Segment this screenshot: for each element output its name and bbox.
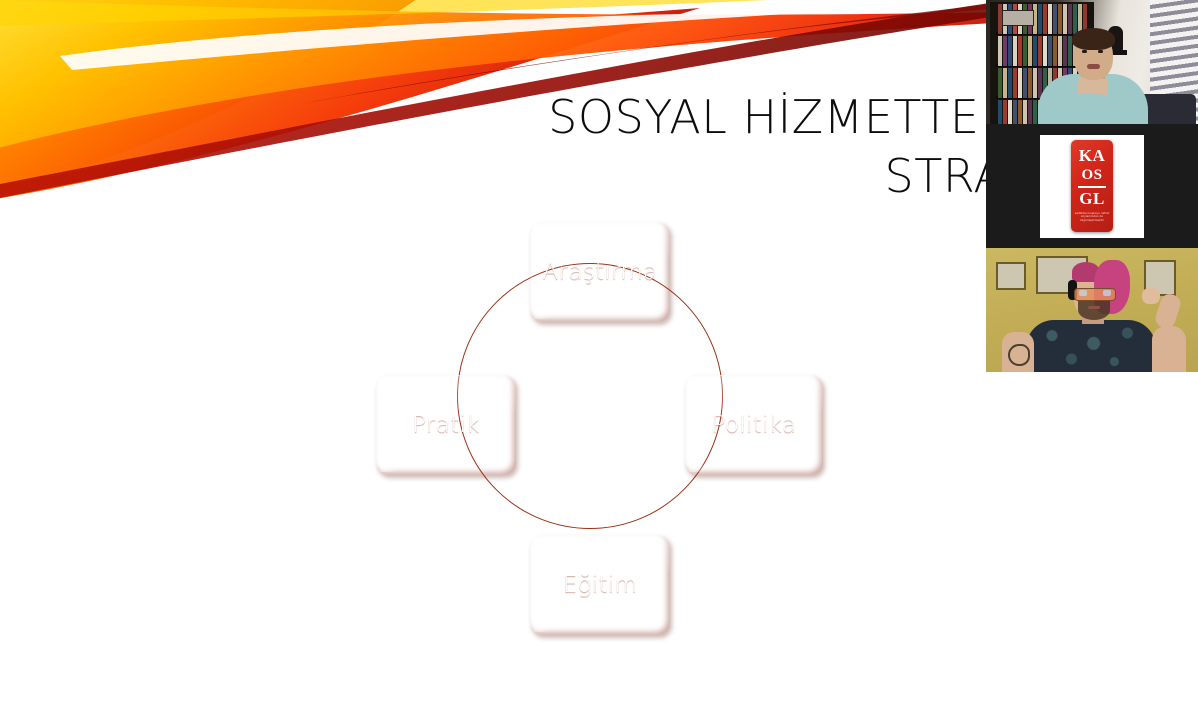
- tattoo: [1008, 344, 1030, 366]
- speaker-mouth: [1088, 306, 1100, 309]
- logo-line-ka: KA: [1071, 147, 1113, 164]
- wall-picture: [1002, 10, 1034, 26]
- cycle-node-label: Politika: [712, 412, 797, 438]
- speaker-eye-right: [1098, 50, 1103, 53]
- logo-line-gl: GL: [1071, 190, 1113, 207]
- logo-slogan: eşitlikten kuşkuyu nefret söyleminden de…: [1071, 212, 1113, 222]
- video-tile-speaker-2[interactable]: [986, 248, 1198, 372]
- logo-line-os: OS: [1071, 168, 1113, 183]
- participant-video-column: KA OS GL eşitlikten kuşkuyu nefret söyle…: [986, 0, 1198, 372]
- speaker-beard: [1078, 300, 1110, 320]
- speaker-mouth: [1087, 64, 1100, 69]
- speaker-arm-right: [1152, 326, 1186, 372]
- presentation-screen: SOSYAL HİZMETTE DE STRATE Araştırma Poli…: [0, 0, 1198, 719]
- cycle-node-politika[interactable]: Politika: [685, 375, 823, 475]
- tinted-glasses: [1074, 288, 1116, 301]
- logo-divider: [1078, 186, 1106, 188]
- speaker-torso: [1026, 320, 1156, 372]
- cycle-node-label: Araştırma: [543, 259, 658, 285]
- cycle-diagram: Araştırma Politika Eğitim Pratik: [340, 200, 860, 670]
- speaker-eye-left: [1082, 50, 1087, 53]
- cycle-node-label: Eğitim: [563, 572, 637, 598]
- slide-title: SOSYAL HİZMETTE DE STRATE: [300, 88, 1060, 206]
- wall-picture-1: [996, 262, 1026, 290]
- speaker-hand: [1142, 288, 1160, 304]
- speaker-hair: [1072, 28, 1115, 50]
- kaos-gl-logo: KA OS GL eşitlikten kuşkuyu nefret söyle…: [1071, 140, 1113, 232]
- video-tile-logo[interactable]: KA OS GL eşitlikten kuşkuyu nefret söyle…: [986, 124, 1198, 248]
- video-tile-speaker-1[interactable]: [986, 0, 1198, 124]
- cycle-node-label: Pratik: [412, 412, 480, 438]
- logo-card: KA OS GL eşitlikten kuşkuyu nefret söyle…: [1040, 135, 1144, 238]
- cycle-node-egitim[interactable]: Eğitim: [530, 535, 670, 635]
- cycle-node-pratik[interactable]: Pratik: [376, 375, 516, 475]
- cycle-node-arastirma[interactable]: Araştırma: [530, 222, 670, 322]
